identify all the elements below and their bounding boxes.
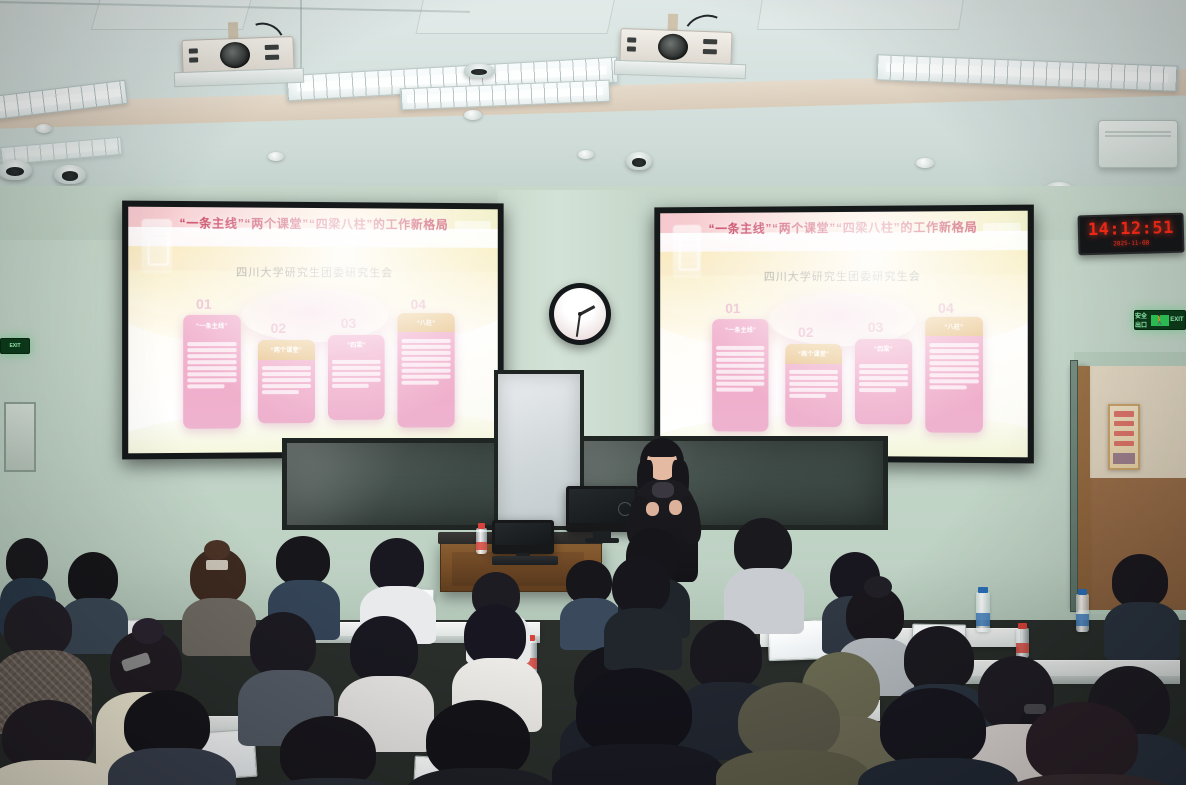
audience-member-foreground — [858, 688, 1014, 785]
ceiling-speaker — [54, 165, 86, 184]
smoke-detector — [268, 152, 284, 161]
wall-notice-frame — [4, 402, 36, 472]
exit-sign-label-en: EXIT — [1169, 317, 1185, 323]
analog-wall-clock — [549, 283, 611, 345]
audience-member-foreground — [108, 690, 232, 785]
lecture-hall-photo: “一条主线”“两个课堂”“四梁八柱”的工作新格局 四川大学研究生团委研究生会 0… — [0, 0, 1186, 785]
exit-sign-label-cn: 安全出口 — [1135, 311, 1151, 329]
audience-member-foreground — [716, 682, 866, 785]
smoke-detector — [464, 110, 482, 120]
presenter-hand — [646, 502, 659, 516]
ceiling-speaker — [0, 160, 32, 180]
exit-sign: 安全出口 🚶 EXIT — [1134, 310, 1186, 330]
slide-left: “一条主线”“两个课堂”“四梁八柱”的工作新格局 四川大学研究生团委研究生会 0… — [128, 207, 498, 454]
hair-clip — [206, 560, 228, 570]
slide-right: “一条主线”“两个课堂”“四梁八柱”的工作新格局 四川大学研究生团委研究生会 0… — [660, 211, 1028, 458]
clock-face — [554, 288, 606, 340]
water-bottle — [476, 528, 487, 554]
audience-member-foreground — [0, 700, 120, 785]
minute-hand — [576, 314, 581, 337]
audience-member — [604, 556, 678, 660]
water-bottle — [1016, 628, 1029, 658]
smoke-detector — [578, 150, 594, 159]
presenter-hand — [669, 500, 682, 515]
ceiling-speaker — [464, 64, 494, 78]
projection-screen-left: “一条主线”“两个课堂”“四梁八柱”的工作新格局 四川大学研究生团委研究生会 0… — [122, 201, 504, 460]
smoke-detector — [36, 124, 52, 133]
exit-sign-label-en: EXIT — [1, 343, 29, 349]
audience-member-foreground — [260, 716, 400, 785]
ceiling-tile — [416, 0, 617, 34]
podium-monitor — [492, 520, 554, 554]
keyboard — [492, 556, 558, 565]
ceiling-speaker — [626, 152, 652, 170]
projection-screen-right: “一条主线”“两个课堂”“四梁八柱”的工作新格局 四川大学研究生团委研究生会 0… — [654, 205, 1034, 464]
ceiling-tile — [757, 0, 965, 30]
corridor-poster — [1108, 404, 1140, 470]
led-digital-clock: 14:12:51 2025-11-08 — [1077, 213, 1184, 256]
audience-member-foreground — [1000, 702, 1170, 785]
running-man-icon: 🚶 — [1151, 315, 1169, 326]
audience-member-foreground — [404, 700, 554, 785]
exit-sign: EXIT — [0, 338, 30, 354]
water-bottle — [1076, 594, 1089, 632]
led-clock-date: 2025-11-08 — [1113, 241, 1149, 248]
smoke-detector — [916, 158, 934, 168]
air-conditioner-unit — [1098, 120, 1178, 168]
door-hinge-column — [1070, 360, 1078, 612]
audience-member — [724, 518, 802, 630]
audience-member — [1104, 554, 1176, 654]
audience-member-foreground — [552, 668, 720, 785]
led-clock-time: 14:12:51 — [1088, 220, 1174, 239]
